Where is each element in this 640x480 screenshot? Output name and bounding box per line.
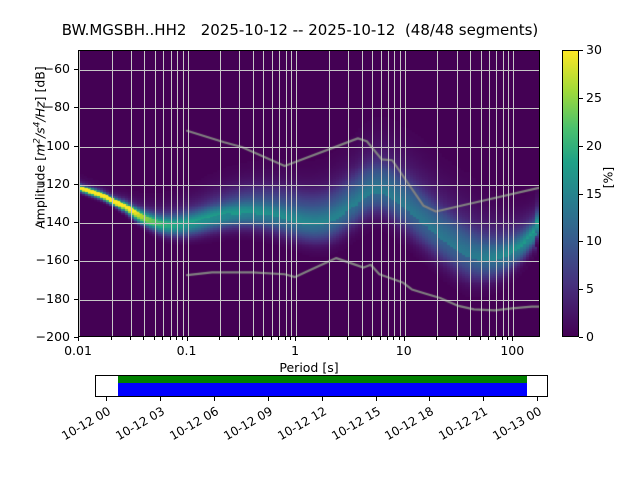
grid-line-v-minor (496, 51, 497, 336)
grid-line-v-minor (329, 51, 330, 336)
colorbar (562, 50, 579, 337)
x-tick-mark (295, 337, 296, 341)
x-minor-tick (507, 337, 508, 340)
ppsd-plot-area (78, 50, 540, 337)
y-tick-mark (74, 184, 78, 185)
grid-line-v-minor (481, 51, 482, 336)
grid-line-v-minor (131, 51, 132, 336)
grid-line-v-minor (394, 51, 395, 336)
grid-line-v-minor (183, 51, 184, 336)
grid-line-v-minor (220, 51, 221, 336)
grid-line-v-minor (163, 51, 164, 336)
grid-line-v (188, 51, 189, 336)
x-minor-tick (393, 337, 394, 340)
x-minor-tick (488, 337, 489, 340)
x-minor-tick (371, 337, 372, 340)
x-minor-tick (387, 337, 388, 340)
x-minor-tick (176, 337, 177, 340)
grid-line-v-minor (503, 51, 504, 336)
y-tick-label: −180 (28, 293, 70, 306)
colorbar-tick-label: 15 (586, 188, 602, 201)
x-minor-tick (399, 337, 400, 340)
colorbar-tick-label: 10 (586, 235, 602, 248)
x-tick-mark (404, 337, 405, 341)
x-minor-tick (238, 337, 239, 340)
colorbar-tick (579, 289, 583, 290)
grid-line-v-minor (470, 51, 471, 336)
y-tick-label: −60 (28, 63, 70, 76)
y-tick-label: −100 (28, 140, 70, 153)
y-tick-mark (74, 299, 78, 300)
x-minor-tick (252, 337, 253, 340)
grid-line-v (296, 51, 297, 336)
y-tick-label: −160 (28, 254, 70, 267)
grid-line-v-minor (388, 51, 389, 336)
x-minor-tick (143, 337, 144, 340)
x-minor-tick (290, 337, 291, 340)
x-minor-tick (285, 337, 286, 340)
x-minor-tick (469, 337, 470, 340)
colorbar-tick (579, 194, 583, 195)
grid-line-v-minor (508, 51, 509, 336)
y-tick-mark (74, 260, 78, 261)
colorbar-tick (579, 241, 583, 242)
x-tick-label: 0.1 (157, 343, 217, 358)
x-minor-tick (219, 337, 220, 340)
x-tick-mark (187, 337, 188, 341)
grid-line-v-minor (171, 51, 172, 336)
timeline-tick (483, 397, 484, 401)
grid-line-v-minor (177, 51, 178, 336)
x-minor-tick (502, 337, 503, 340)
timeline-tick (376, 397, 377, 401)
x-tick-mark (78, 337, 79, 341)
timeline-tick (106, 397, 107, 401)
page-title: BW.MGSBH..HH2 2025-10-12 -- 2025-10-12 (… (0, 21, 600, 39)
colorbar-tick-label: 20 (586, 140, 602, 153)
x-minor-tick (182, 337, 183, 340)
colorbar-tick-label: 25 (586, 92, 602, 105)
x-minor-tick (262, 337, 263, 340)
grid-line-v (79, 51, 80, 336)
grid-line-v-minor (372, 51, 373, 336)
x-minor-tick (162, 337, 163, 340)
x-axis-label: Period [s] (78, 360, 540, 375)
x-minor-tick (154, 337, 155, 340)
x-minor-tick (271, 337, 272, 340)
y-tick-label: −120 (28, 178, 70, 191)
grid-line-v-minor (112, 51, 113, 336)
x-minor-tick (111, 337, 112, 340)
x-minor-tick (328, 337, 329, 340)
y-tick-mark (74, 222, 78, 223)
colorbar-tick-label: 30 (586, 44, 602, 57)
x-minor-tick (380, 337, 381, 340)
grid-line-v-minor (279, 51, 280, 336)
coverage-band-blue (118, 383, 527, 396)
grid-line-v-minor (239, 51, 240, 336)
grid-line-v-minor (489, 51, 490, 336)
timeline-tick (214, 397, 215, 401)
x-minor-tick (436, 337, 437, 340)
grid-line-v-minor (286, 51, 287, 336)
grid-line-v-minor (457, 51, 458, 336)
x-tick-mark (512, 337, 513, 341)
grid-line-v-minor (272, 51, 273, 336)
ppsd-figure: BW.MGSBH..HH2 2025-10-12 -- 2025-10-12 (… (0, 0, 640, 480)
x-tick-label: 10 (374, 343, 434, 358)
x-minor-tick (480, 337, 481, 340)
timeline-tick (322, 397, 323, 401)
y-tick-mark (74, 146, 78, 147)
y-tick-label: −200 (28, 331, 70, 344)
colorbar-tick (579, 146, 583, 147)
colorbar-tick (579, 50, 583, 51)
x-minor-tick (456, 337, 457, 340)
timeline-tick (429, 397, 430, 401)
timeline-tick (268, 397, 269, 401)
x-minor-tick (495, 337, 496, 340)
y-tick-mark (74, 107, 78, 108)
x-minor-tick (347, 337, 348, 340)
colorbar-tick-label: 0 (586, 331, 594, 344)
grid-line-v-minor (348, 51, 349, 336)
coverage-band-green (118, 376, 527, 383)
x-minor-tick (170, 337, 171, 340)
y-tick-label: −140 (28, 216, 70, 229)
colorbar-tick (579, 337, 583, 338)
data-coverage-timeline (95, 375, 548, 397)
grid-line-v-minor (263, 51, 264, 336)
y-tick-label: −80 (28, 101, 70, 114)
grid-line-v-minor (155, 51, 156, 336)
x-tick-label: 1 (265, 343, 325, 358)
timeline-tick (160, 397, 161, 401)
grid-line-v-minor (253, 51, 254, 336)
x-minor-tick (361, 337, 362, 340)
colorbar-tick-label: 5 (586, 283, 594, 296)
x-tick-label: 100 (482, 343, 542, 358)
x-minor-tick (130, 337, 131, 340)
x-minor-tick (278, 337, 279, 340)
grid-line-v-minor (400, 51, 401, 336)
colorbar-tick (579, 98, 583, 99)
grid-line-v-minor (291, 51, 292, 336)
grid-line-v-minor (381, 51, 382, 336)
colorbar-label: [%] (601, 148, 616, 208)
grid-line-v-minor (437, 51, 438, 336)
y-tick-mark (74, 69, 78, 70)
grid-line-v-minor (362, 51, 363, 336)
x-tick-label: 0.01 (48, 343, 108, 358)
grid-line-v (405, 51, 406, 336)
timeline-tick (537, 397, 538, 401)
grid-line-v (513, 51, 514, 336)
grid-line-v-minor (144, 51, 145, 336)
